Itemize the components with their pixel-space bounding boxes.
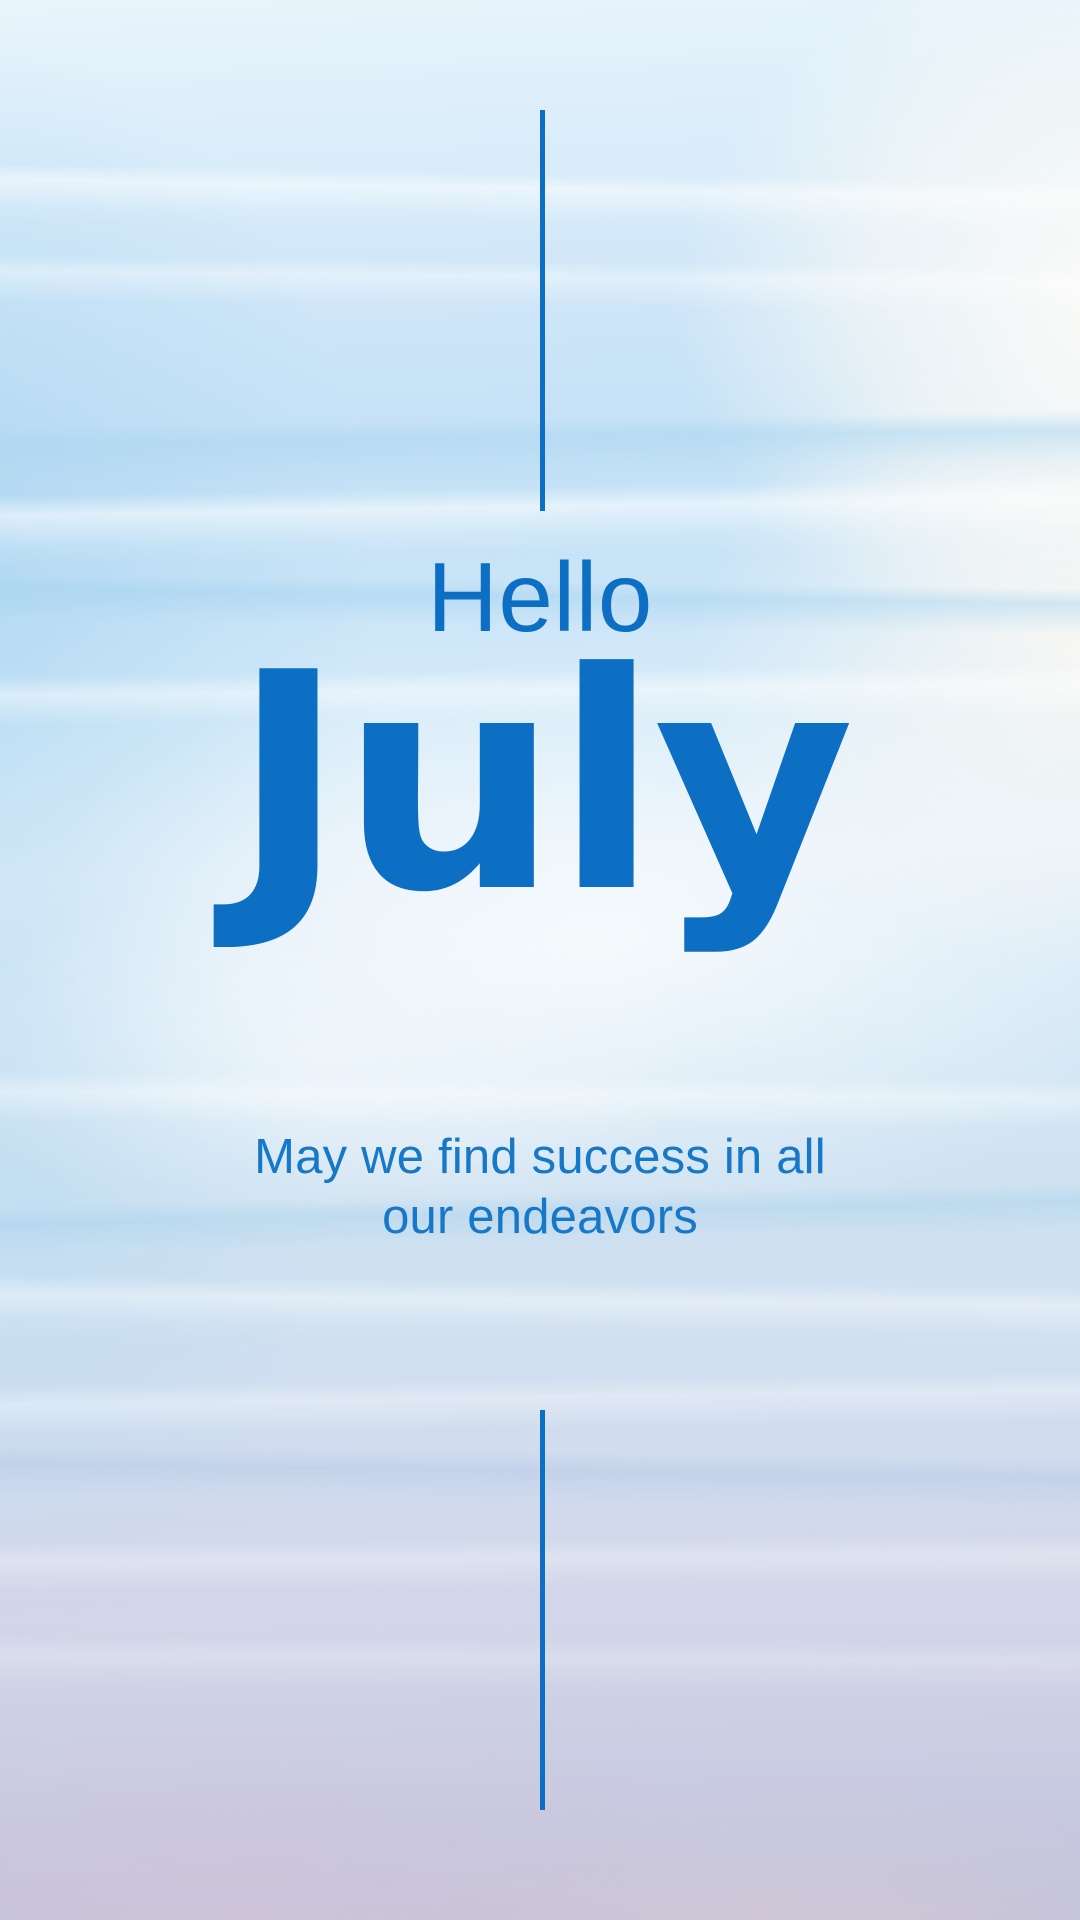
poster-canvas: Hello July May we find success in all ou… xyxy=(0,0,1080,1920)
vertical-accent-rule-bottom xyxy=(540,1410,545,1810)
month-title-wrapper: July xyxy=(0,652,1080,922)
tagline: May we find success in all our endeavors xyxy=(0,1128,1080,1248)
tagline-line-2: our endeavors xyxy=(0,1188,1080,1248)
tagline-line-1: May we find success in all xyxy=(254,1130,826,1184)
vertical-accent-rule-top xyxy=(540,110,545,511)
month-title: July xyxy=(231,652,849,916)
